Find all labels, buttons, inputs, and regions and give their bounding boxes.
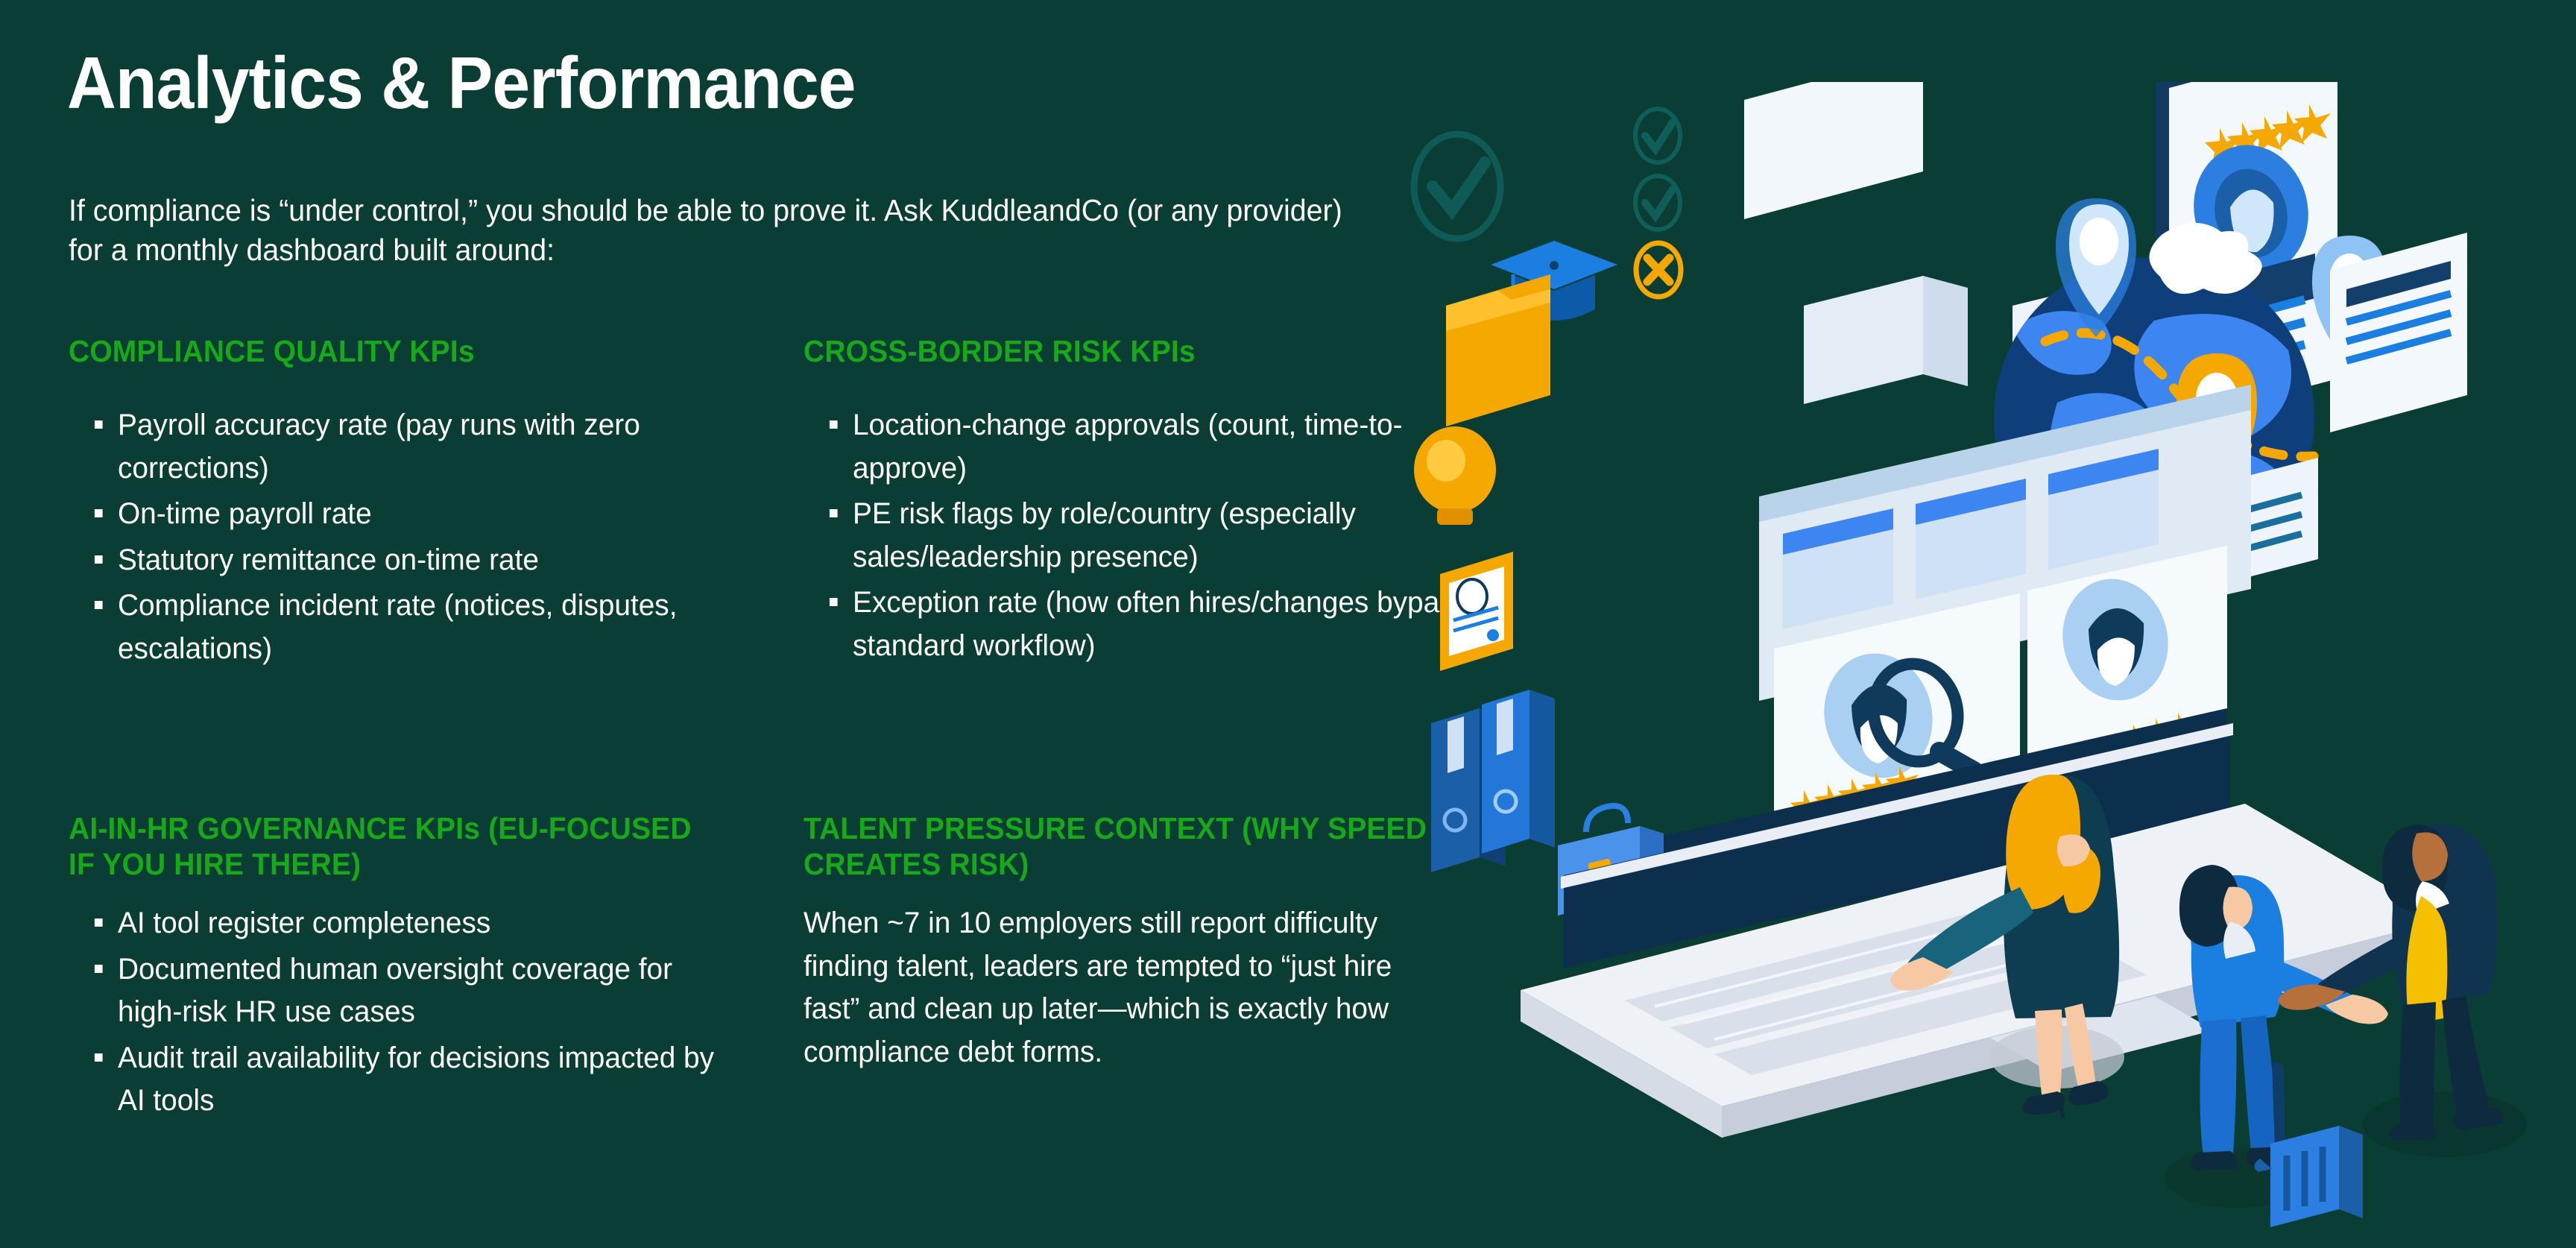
list-item-text: Audit trail availability for decisions i… — [118, 1041, 714, 1118]
candidate-profile-card — [1744, 82, 1923, 219]
bullet-square-icon — [95, 965, 103, 973]
hr-recruitment-illustration — [1401, 82, 2576, 1248]
list-item-text: On-time payroll rate — [118, 497, 372, 530]
list-item: Documented human oversight coverage for … — [69, 948, 733, 1034]
list-item-text: Documented human oversight coverage for … — [118, 953, 672, 1029]
bullet-square-icon — [95, 509, 103, 517]
section-heading: TALENT PRESSURE CONTEXT (WHY SPEED CREAT… — [804, 811, 1441, 883]
section-heading: COMPLIANCE QUALITY KPIs — [69, 334, 706, 370]
bullet-list: Location-change approvals (count, time-t… — [804, 404, 1489, 668]
check-circle-icon — [1414, 134, 1500, 239]
section-heading: CROSS-BORDER RISK KPIs — [804, 334, 1455, 370]
page-subtitle: If compliance is “under control,” you sh… — [69, 191, 1371, 271]
candidate-profile-card — [1804, 276, 1968, 404]
list-item: Location-change approvals (count, time-t… — [804, 404, 1468, 490]
section-heading: AI-IN-HR GOVERNANCE KPIs (EU-FOCUSED IF … — [69, 811, 720, 883]
section-talent-pressure-context: TALENT PRESSURE CONTEXT (WHY SPEED CREAT… — [804, 811, 1474, 1074]
check-circle-icon — [1635, 176, 1680, 230]
check-circle-icon — [1635, 109, 1680, 163]
bullet-square-icon — [830, 420, 838, 429]
bullet-list: Payroll accuracy rate (pay runs with zer… — [69, 404, 739, 671]
bullet-square-icon — [95, 420, 103, 429]
list-item: Payroll accuracy rate (pay runs with zer… — [69, 404, 719, 490]
list-item-text: Exception rate (how often hires/changes … — [853, 586, 1468, 662]
section-compliance-quality-kpis: COMPLIANCE QUALITY KPIs Payroll accuracy… — [69, 334, 739, 674]
list-item: Statutory remittance on-time rate — [69, 539, 719, 582]
section-ai-in-hr-governance-kpis: AI-IN-HR GOVERNANCE KPIs (EU-FOCUSED IF … — [69, 811, 754, 1126]
cross-circle-icon — [1636, 243, 1681, 297]
binder-folders-icon — [1431, 690, 1555, 872]
bullet-list: AI tool register completeness Documented… — [69, 902, 754, 1123]
list-item-text: Statutory remittance on-time rate — [118, 543, 539, 576]
list-item: AI tool register completeness — [69, 902, 733, 945]
list-item-text: Compliance incident rate (notices, dispu… — [118, 589, 678, 665]
infographic-slide: Analytics & Performance If compliance is… — [0, 0, 2576, 1248]
lightbulb-icon — [1414, 426, 1496, 525]
bullet-square-icon — [830, 598, 838, 606]
bullet-square-icon — [95, 918, 103, 927]
list-item-text: Location-change approvals (count, time-t… — [853, 409, 1403, 485]
list-item: Audit trail availability for decisions i… — [69, 1037, 733, 1123]
bullet-square-icon — [95, 1053, 103, 1062]
list-item-text: PE risk flags by role/country (especiall… — [853, 497, 1356, 573]
page-title: Analytics & Performance — [67, 46, 856, 119]
section-cross-border-risk-kpis: CROSS-BORDER RISK KPIs Location-change a… — [804, 334, 1489, 671]
bullet-square-icon — [830, 509, 838, 517]
section-paragraph: When ~7 in 10 employers still report dif… — [804, 902, 1454, 1074]
list-item: On-time payroll rate — [69, 493, 719, 536]
list-item-text: AI tool register completeness — [118, 907, 490, 939]
list-item-text: Payroll accuracy rate (pay runs with zer… — [118, 409, 640, 485]
list-item: Exception rate (how often hires/changes … — [804, 582, 1468, 667]
list-item: Compliance incident rate (notices, dispu… — [69, 584, 719, 670]
bullet-square-icon — [95, 555, 103, 564]
text-content-area: Analytics & Performance If compliance is… — [0, 0, 1506, 1248]
yellow-folder-icon — [1446, 274, 1550, 426]
bullet-square-icon — [95, 601, 103, 609]
list-item: PE risk flags by role/country (especiall… — [804, 493, 1468, 579]
certificate-icon — [1440, 552, 1513, 671]
